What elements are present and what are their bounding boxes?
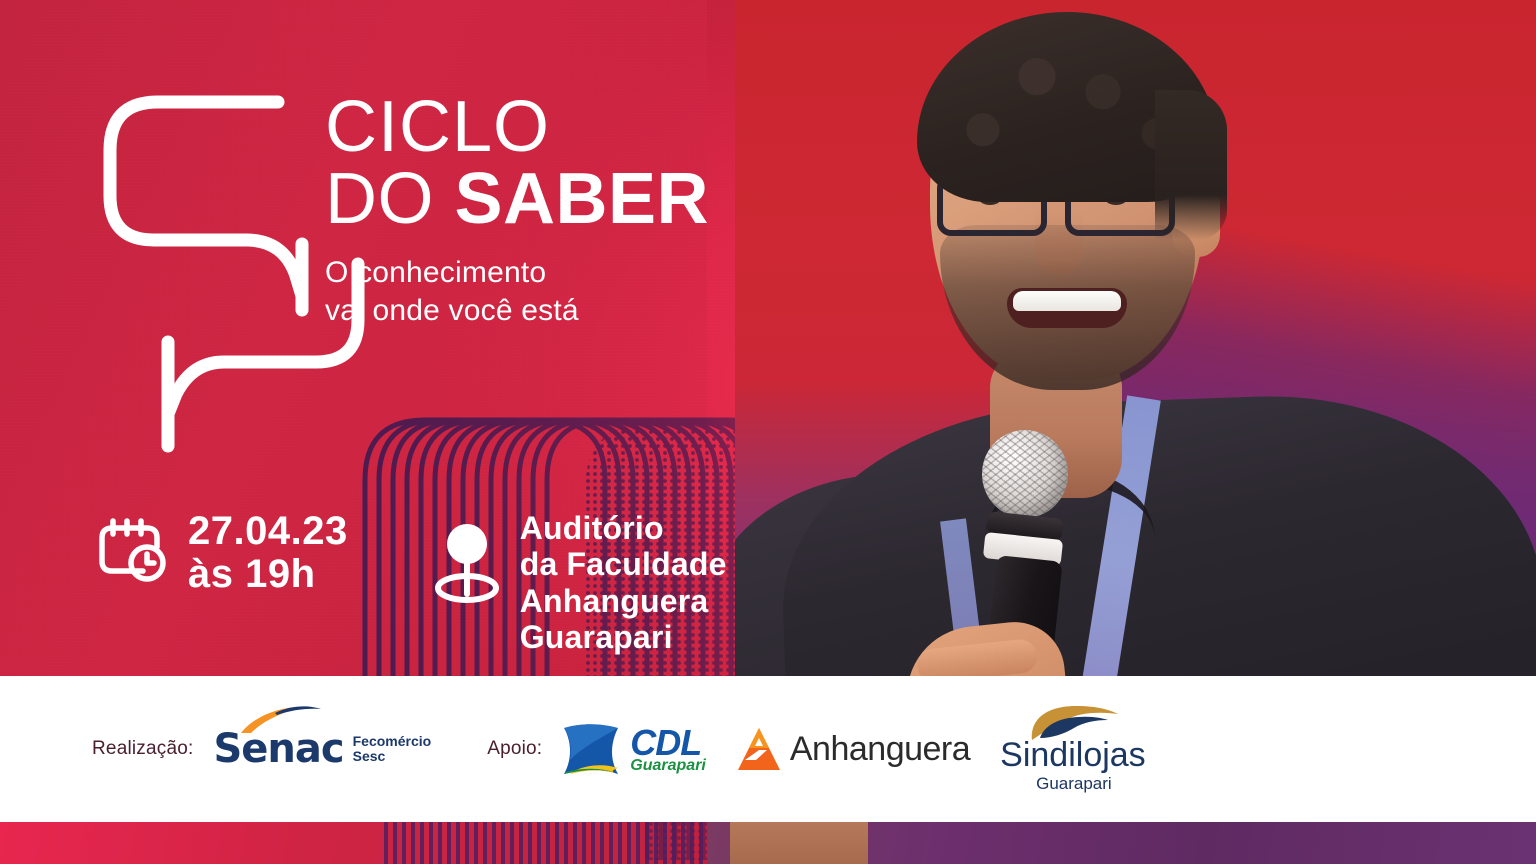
senac-sub-2: Sesc <box>353 749 432 764</box>
map-pin-icon <box>434 522 500 609</box>
sponsor-footer: Realização: Senac Fecomércio Sesc Apoio: <box>0 676 1536 822</box>
senac-logo: Senac Fecomércio Sesc <box>213 731 431 767</box>
venue-line-1: Auditório <box>520 510 727 546</box>
cdl-flag-icon <box>560 720 622 778</box>
bottom-strip-arm <box>730 822 868 864</box>
sindilojas-logo: Sindilojas Guarapari <box>1000 704 1146 794</box>
venue-info: Auditório da Faculdade Anhanguera Guarap… <box>434 510 727 656</box>
date-value: 27.04.23 <box>188 510 348 553</box>
anhanguera-logo: Anhanguera <box>736 726 970 772</box>
cdl-subtext: Guarapari <box>630 758 706 774</box>
realizacao-label: Realização: <box>92 738 193 760</box>
teeth <box>1013 291 1121 311</box>
tagline-line-1: O conhecimento <box>325 254 709 292</box>
sindilojas-subtext: Guarapari <box>1036 774 1112 794</box>
time-value: às 19h <box>188 553 348 596</box>
bottom-strip-stripes <box>384 822 753 864</box>
title-saber: SABER <box>455 159 710 239</box>
title-block: CICLO DO SABER O conhecimento vai onde v… <box>325 92 709 331</box>
senac-subtext: Fecomércio Sesc <box>353 734 432 764</box>
apoio-label: Apoio: <box>487 738 542 760</box>
event-info-row: 27.04.23 às 19h Auditório da Faculdade A… <box>96 510 727 656</box>
venue-line-3: Anhanguera <box>520 583 727 619</box>
sindilojas-wordmark: Sindilojas <box>1000 738 1146 772</box>
senac-swoosh-icon <box>237 705 333 735</box>
calendar-clock-icon <box>96 514 170 593</box>
sponsor-strip: Realização: Senac Fecomércio Sesc Apoio: <box>0 704 1146 794</box>
venue-line-4: Guarapari <box>520 619 727 655</box>
tagline-line-2: vai onde você está <box>325 292 709 330</box>
senac-sub-1: Fecomércio <box>353 734 432 749</box>
venue-line-2: da Faculdade <box>520 546 727 582</box>
page-title: CICLO <box>325 92 709 163</box>
anhanguera-wordmark: Anhanguera <box>790 730 970 769</box>
event-poster: CICLO DO SABER O conhecimento vai onde v… <box>0 0 1536 864</box>
date-info: 27.04.23 às 19h <box>96 510 348 596</box>
event-date: 27.04.23 às 19h <box>188 510 348 596</box>
cdl-logo: CDL Guarapari <box>560 720 706 778</box>
mouth <box>1007 288 1127 328</box>
hair-sideburn <box>1155 90 1227 240</box>
cdl-text: CDL Guarapari <box>630 725 706 774</box>
title-do: DO <box>325 159 455 239</box>
venue-name: Auditório da Faculdade Anhanguera Guarap… <box>520 510 727 656</box>
microphone-head <box>982 430 1068 518</box>
tagline: O conhecimento vai onde você está <box>325 254 709 331</box>
cdl-wordmark: CDL <box>630 725 706 761</box>
title-line-two: DO SABER <box>325 163 709 236</box>
bottom-strip <box>0 822 1536 864</box>
microphone-grille <box>982 430 1068 518</box>
anhanguera-pyramid-icon <box>736 726 782 772</box>
